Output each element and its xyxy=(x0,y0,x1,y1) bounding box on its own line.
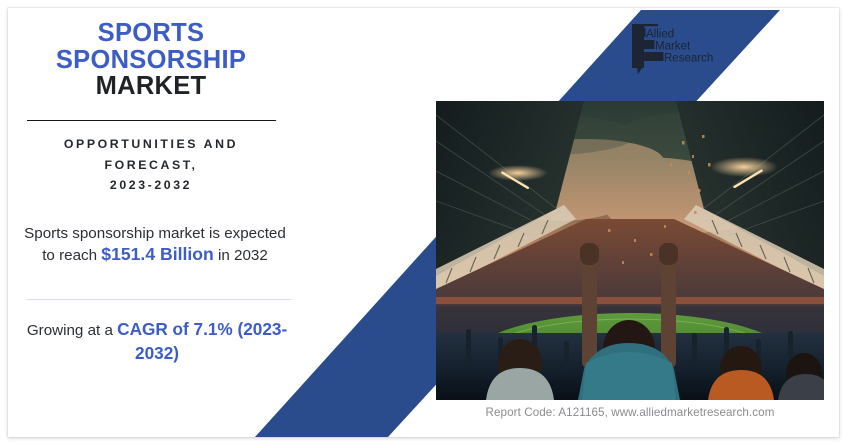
stat-divider xyxy=(27,299,291,300)
subtitle: OPPORTUNITIES AND FORECAST, 2023-2032 xyxy=(18,134,284,196)
cagr-prefix: Growing at a xyxy=(27,322,117,339)
left-text-panel: SPORTS SPONSORSHIP MARKET OPPORTUNITIES … xyxy=(8,8,293,437)
page-title: SPORTS SPONSORSHIP MARKET xyxy=(12,20,290,100)
subtitle-line-1: OPPORTUNITIES AND xyxy=(18,134,284,155)
logo-line-1: Allied xyxy=(646,29,674,41)
report-code-caption: Report Code: A121165, www.alliedmarketre… xyxy=(436,406,824,419)
title-line-1: SPORTS xyxy=(12,20,290,47)
title-divider xyxy=(27,120,276,121)
allied-market-research-logo: Allied Market Research xyxy=(628,22,720,74)
cagr-stat: Growing at a CAGR of 7.1% (2023-2032) xyxy=(22,318,292,366)
title-line-3: MARKET xyxy=(12,73,290,100)
stat-highlight: $151.4 Billion xyxy=(101,244,213,264)
logo-line-2: Market xyxy=(655,41,691,53)
stadium-photo xyxy=(436,101,824,400)
stat-suffix: in 2032 xyxy=(214,247,268,264)
title-line-2: SPONSORSHIP xyxy=(12,47,290,74)
infographic-card: SPORTS SPONSORSHIP MARKET OPPORTUNITIES … xyxy=(8,8,839,437)
logo-line-3: Research xyxy=(664,53,713,65)
market-value-stat: Sports sponsorship market is expected to… xyxy=(22,223,288,266)
cagr-highlight: CAGR of 7.1% (2023-2032) xyxy=(117,319,287,363)
subtitle-line-2: FORECAST, xyxy=(18,155,284,176)
subtitle-line-3: 2023-2032 xyxy=(18,175,284,196)
